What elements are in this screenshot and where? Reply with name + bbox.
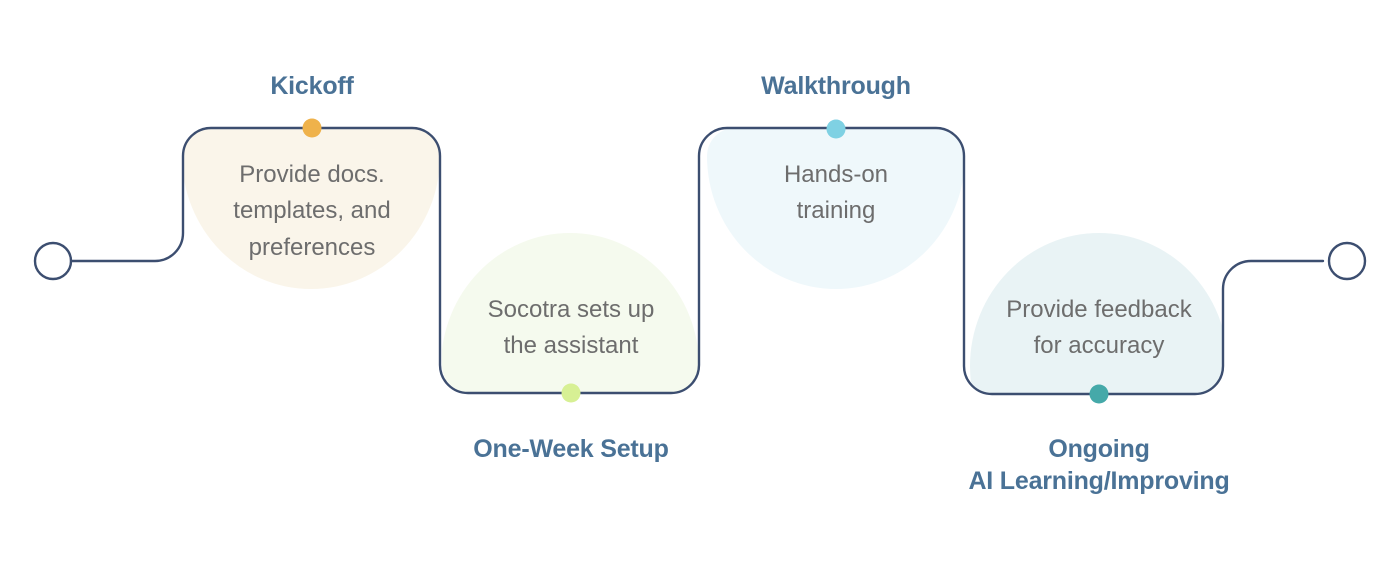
milestone-dot-kickoff[interactable] (303, 119, 322, 138)
step-body-ongoing-ai-learning: Provide feedback for accuracy (1006, 292, 1191, 365)
step-title-one-week-setup: One-Week Setup (473, 433, 668, 465)
step-body-one-week-setup: Socotra sets up the assistant (488, 292, 655, 365)
start-node-circle (35, 243, 71, 279)
milestone-dot-ongoing-ai-learning[interactable] (1090, 385, 1109, 404)
milestone-dot-walkthrough[interactable] (827, 120, 846, 139)
step-title-kickoff: Kickoff (270, 70, 353, 102)
step-body-kickoff: Provide docs. templates, and preferences (233, 157, 390, 266)
step-title-walkthrough: Walkthrough (761, 70, 911, 102)
step-title-ongoing-ai-learning: Ongoing AI Learning/Improving (968, 433, 1229, 497)
step-body-walkthrough: Hands-on training (784, 157, 888, 230)
end-node-circle (1329, 243, 1365, 279)
onboarding-timeline-diagram: KickoffProvide docs. templates, and pref… (0, 0, 1394, 566)
milestone-dots (303, 119, 1109, 404)
milestone-dot-one-week-setup[interactable] (562, 384, 581, 403)
